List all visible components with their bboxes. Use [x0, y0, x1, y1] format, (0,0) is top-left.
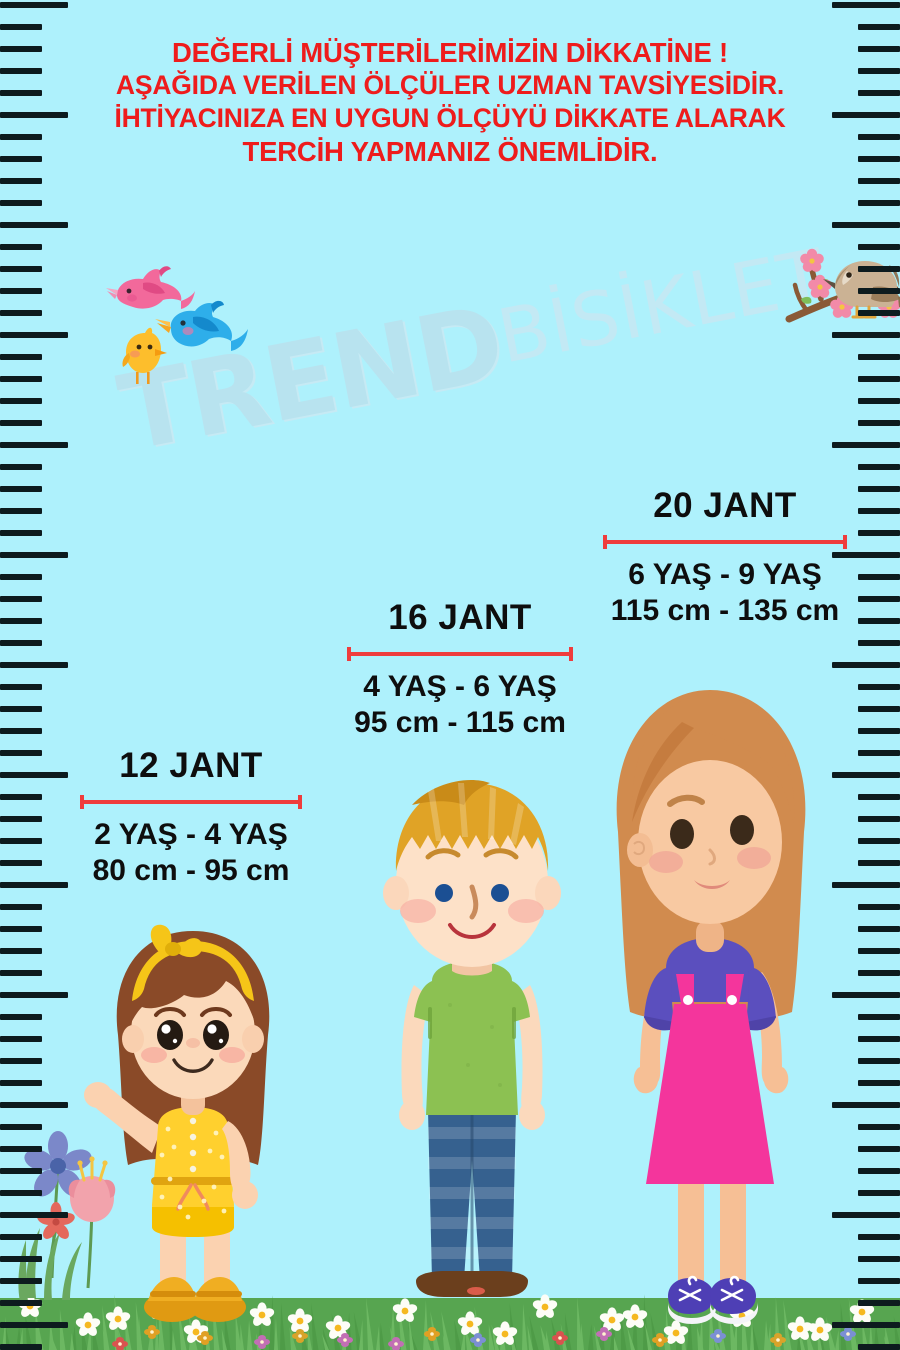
size-chart-poster: DEĞERLİ MÜŞTERİLERİMİZİN DİKKATİNE ! AŞA…	[0, 0, 900, 1350]
ruler-tick-major	[832, 552, 900, 558]
ruler-tick-minor	[0, 508, 42, 514]
ruler-tick-minor	[0, 178, 42, 184]
measure-bar-cap-left	[603, 535, 607, 549]
ruler-tick-minor	[0, 1278, 42, 1284]
measure-bar-cap-right	[569, 647, 573, 661]
ruler-tick-major	[0, 1102, 68, 1108]
measure-bar-cap-right	[298, 795, 302, 809]
ruler-tick-minor	[858, 1036, 900, 1042]
ruler-tick-minor	[858, 24, 900, 30]
ruler-tick-minor	[858, 46, 900, 52]
ruler-tick-minor	[0, 1058, 42, 1064]
measure-bar-20	[603, 535, 847, 549]
pink-bird-icon	[106, 266, 195, 309]
measure-bar-cap-left	[80, 795, 84, 809]
wheel-size-label-16: 16 JANT	[325, 598, 595, 638]
height-range-label-16: 95 cm - 115 cm	[325, 705, 595, 741]
ruler-tick-major	[832, 1212, 900, 1218]
sneakers	[668, 1277, 758, 1324]
ruler-tick-minor	[0, 266, 42, 272]
ruler-tick-minor	[0, 816, 42, 822]
ruler-tick-minor	[858, 1300, 900, 1306]
ruler-tick-major	[0, 992, 68, 998]
yellow-chick-icon	[122, 328, 167, 384]
measure-bar-16	[347, 647, 573, 661]
ruler-tick-minor	[858, 1344, 900, 1350]
ruler-tick-minor	[858, 464, 900, 470]
ruler-tick-major	[0, 442, 68, 448]
hand-right	[519, 1100, 545, 1130]
ruler-tick-major	[832, 442, 900, 448]
ruler-tick-minor	[858, 838, 900, 844]
ruler-tick-minor	[858, 1190, 900, 1196]
ruler-tick-minor	[0, 1080, 42, 1086]
ruler-tick-minor	[0, 574, 42, 580]
ruler-tick-minor	[0, 1124, 42, 1130]
ruler-tick-minor	[858, 200, 900, 206]
ruler-tick-minor	[0, 244, 42, 250]
ruler-tick-minor	[0, 904, 42, 910]
ruler-tick-minor	[0, 926, 42, 932]
ruler-tick-minor	[0, 706, 42, 712]
ruler-tick-minor	[0, 640, 42, 646]
wheel-size-label-12: 12 JANT	[60, 746, 322, 786]
ruler-tick-major	[0, 222, 68, 228]
flying-birds-group	[105, 255, 245, 380]
ruler-tick-minor	[858, 376, 900, 382]
head	[383, 780, 561, 967]
ruler-tick-minor	[858, 1014, 900, 1020]
ruler-tick-minor	[0, 860, 42, 866]
ruler-tick-major	[0, 882, 68, 888]
ruler-tick-minor	[858, 1234, 900, 1240]
ruler-tick-minor	[0, 948, 42, 954]
measure-bar-line	[80, 800, 302, 804]
ruler-tick-minor	[0, 596, 42, 602]
ruler-tick-minor	[858, 508, 900, 514]
age-range-label-12: 2 YAŞ - 4 YAŞ	[60, 817, 322, 853]
ruler-tick-minor	[0, 464, 42, 470]
character-boy	[372, 775, 572, 1335]
ruler-tick-minor	[0, 1014, 42, 1020]
size-block-16-jant: 16 JANT 4 YAŞ - 6 YAŞ 95 cm - 115 cm	[325, 598, 595, 741]
ruler-tick-major	[0, 772, 68, 778]
ruler-tick-minor	[0, 1344, 42, 1350]
ruler-tick-minor	[0, 288, 42, 294]
ruler-tick-minor	[858, 134, 900, 140]
ruler-tick-minor	[0, 68, 42, 74]
ruler-tick-major	[0, 332, 68, 338]
ruler-tick-major	[0, 662, 68, 668]
ruler-tick-major	[832, 772, 900, 778]
ruler-tick-minor	[858, 244, 900, 250]
ruler-tick-minor	[0, 728, 42, 734]
ruler-tick-minor	[0, 794, 42, 800]
ruler-tick-minor	[858, 794, 900, 800]
hand-right	[232, 1181, 258, 1209]
ruler-tick-minor	[0, 970, 42, 976]
ruler-tick-minor	[858, 1124, 900, 1130]
ruler-tick-minor	[0, 46, 42, 52]
ruler-tick-minor	[0, 1036, 42, 1042]
ruler-tick-minor	[858, 926, 900, 932]
ruler-tick-minor	[858, 1256, 900, 1262]
ruler-tick-minor	[858, 1058, 900, 1064]
ruler-tick-minor	[858, 728, 900, 734]
age-range-label-16: 4 YAŞ - 6 YAŞ	[325, 669, 595, 705]
ruler-tick-minor	[858, 684, 900, 690]
green-tshirt	[414, 961, 530, 1115]
headline-line-4: TERCİH YAPMANIZ ÖNEMLİDİR.	[60, 135, 840, 168]
hand-left	[399, 1100, 425, 1130]
ruler-tick-minor	[0, 750, 42, 756]
ruler-tick-major	[0, 1212, 68, 1218]
ruler-tick-minor	[858, 1080, 900, 1086]
ruler-tick-minor	[858, 904, 900, 910]
ruler-tick-major	[0, 552, 68, 558]
ruler-tick-minor	[858, 970, 900, 976]
shoes	[144, 1277, 246, 1322]
headline-line-1: DEĞERLİ MÜŞTERİLERİMİZİN DİKKATİNE !	[60, 36, 840, 69]
outfit-romper	[151, 1107, 235, 1237]
ruler-tick-minor	[0, 486, 42, 492]
ruler-tick-minor	[858, 860, 900, 866]
ruler-tick-major	[832, 222, 900, 228]
ruler-tick-minor	[0, 838, 42, 844]
ruler-tick-minor	[0, 310, 42, 316]
ruler-tick-major	[832, 662, 900, 668]
headline-line-2: AŞAĞIDA VERİLEN ÖLÇÜLER UZMAN TAVSİYESİD…	[60, 69, 840, 102]
ruler-tick-minor	[0, 24, 42, 30]
ruler-tick-minor	[0, 156, 42, 162]
ruler-tick-major	[832, 112, 900, 118]
ruler-tick-minor	[0, 420, 42, 426]
ruler-tick-minor	[858, 530, 900, 536]
ruler-tick-minor	[858, 948, 900, 954]
ruler-tick-minor	[0, 684, 42, 690]
ruler-tick-minor	[0, 618, 42, 624]
character-girl-big	[598, 672, 823, 1337]
ruler-tick-minor	[858, 640, 900, 646]
ruler-tick-minor	[858, 420, 900, 426]
ruler-tick-minor	[858, 706, 900, 712]
ruler-tick-major	[832, 992, 900, 998]
ruler-tick-major	[832, 882, 900, 888]
ruler-tick-major	[0, 2, 68, 8]
ruler-tick-minor	[858, 288, 900, 294]
headline-line-3: İHTİYACINIZA EN UYGUN ÖLÇÜYÜ DİKKATE ALA…	[60, 102, 840, 135]
ruler-tick-minor	[858, 750, 900, 756]
watermark-brand-light: BİSİKLET	[491, 233, 832, 381]
ruler-tick-minor	[858, 596, 900, 602]
ruler-tick-minor	[858, 1168, 900, 1174]
ruler-tick-minor	[0, 200, 42, 206]
ruler-tick-major	[832, 1102, 900, 1108]
headline-block: DEĞERLİ MÜŞTERİLERİMİZİN DİKKATİNE ! AŞA…	[0, 36, 900, 168]
ruler-tick-minor	[858, 156, 900, 162]
ruler-tick-minor	[0, 1146, 42, 1152]
character-girl-small	[88, 915, 298, 1335]
ruler-tick-minor	[858, 618, 900, 624]
ruler-tick-minor	[858, 68, 900, 74]
ruler-tick-major	[0, 1322, 68, 1328]
ruler-tick-minor	[858, 1278, 900, 1284]
ruler-tick-minor	[0, 1256, 42, 1262]
jeans	[428, 1110, 516, 1280]
ruler-tick-minor	[0, 90, 42, 96]
height-range-label-12: 80 cm - 95 cm	[60, 853, 322, 889]
shoes	[416, 1271, 528, 1297]
ruler-tick-major	[832, 2, 900, 8]
neck	[696, 920, 724, 952]
ruler-left	[0, 0, 70, 1350]
ruler-tick-minor	[858, 90, 900, 96]
ruler-tick-minor	[858, 266, 900, 272]
ruler-tick-minor	[858, 310, 900, 316]
ruler-tick-minor	[0, 398, 42, 404]
ruler-tick-minor	[858, 1146, 900, 1152]
ruler-tick-minor	[0, 134, 42, 140]
ruler-tick-minor	[0, 1168, 42, 1174]
hand-left	[84, 1082, 112, 1108]
ruler-tick-minor	[858, 816, 900, 822]
ruler-tick-major	[0, 112, 68, 118]
ruler-tick-minor	[0, 530, 42, 536]
measure-bar-line	[347, 652, 573, 656]
ruler-tick-minor	[858, 398, 900, 404]
ruler-tick-minor	[0, 376, 42, 382]
ruler-tick-major	[832, 1322, 900, 1328]
ruler-tick-major	[832, 332, 900, 338]
ruler-tick-minor	[858, 486, 900, 492]
ruler-tick-minor	[0, 1300, 42, 1306]
size-block-12-jant: 12 JANT 2 YAŞ - 4 YAŞ 80 cm - 95 cm	[60, 746, 322, 889]
ruler-tick-minor	[858, 574, 900, 580]
measure-bar-12	[80, 795, 302, 809]
measure-bar-cap-left	[347, 647, 351, 661]
ruler-right	[830, 0, 900, 1350]
ruler-tick-minor	[0, 1234, 42, 1240]
measure-bar-line	[603, 540, 847, 544]
ruler-tick-minor	[0, 354, 42, 360]
ruler-tick-minor	[858, 354, 900, 360]
blue-bird-icon	[155, 301, 248, 351]
ruler-tick-minor	[0, 1190, 42, 1196]
ruler-tick-minor	[858, 178, 900, 184]
